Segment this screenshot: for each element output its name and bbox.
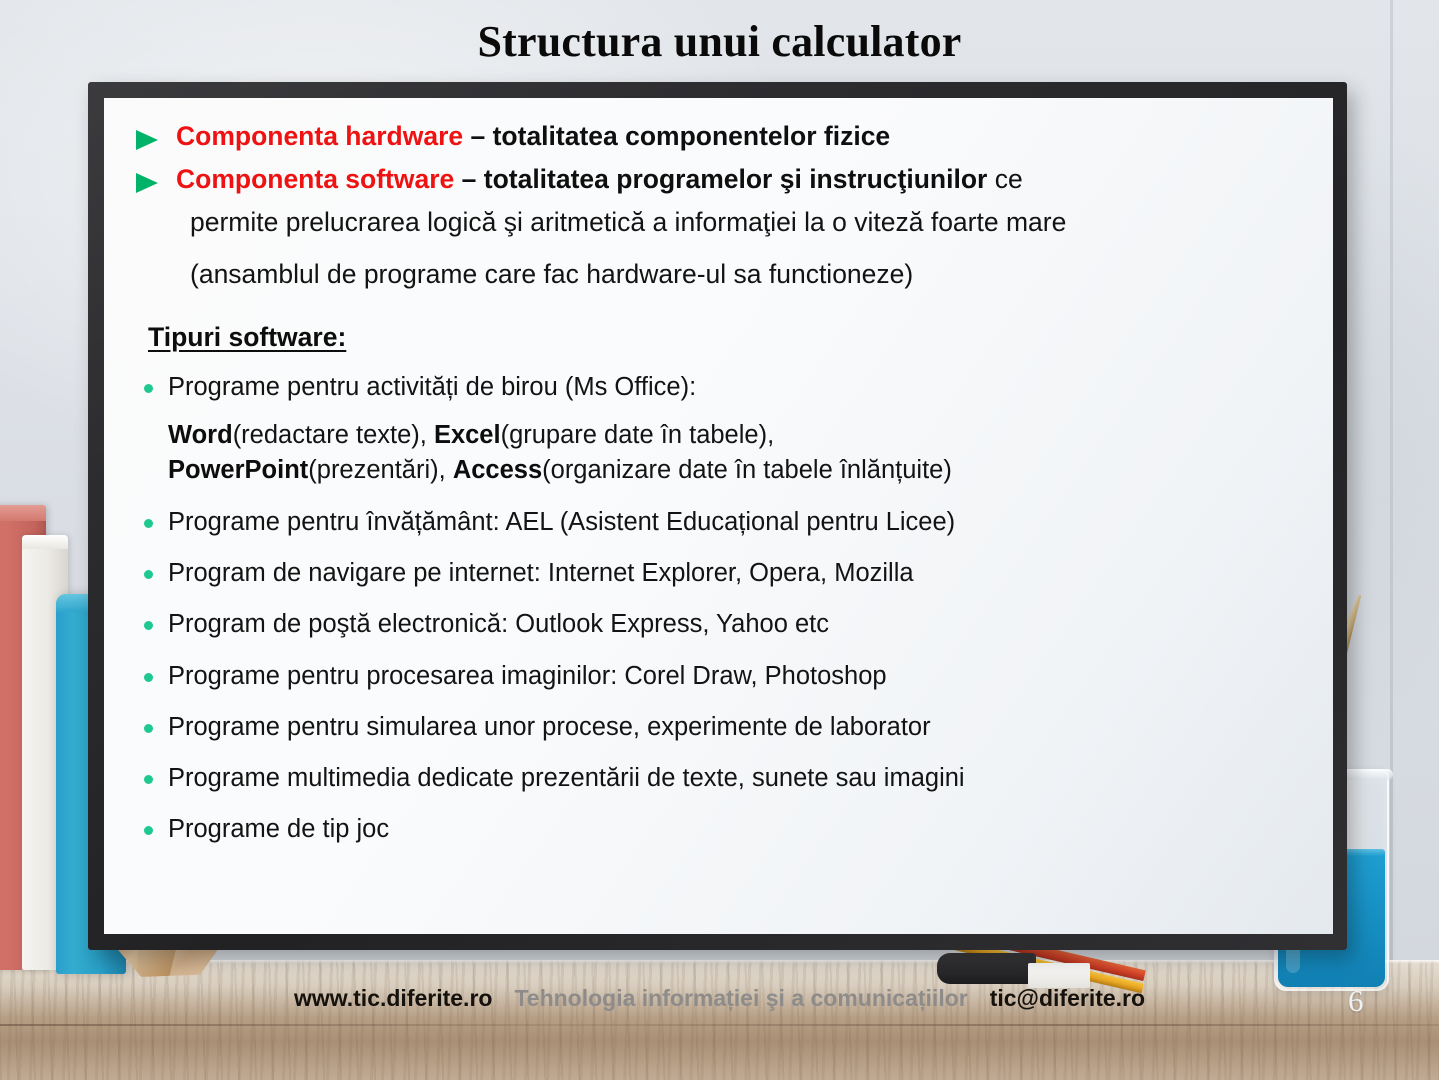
list-item-label: Programe pentru activități de birou (Ms … [168,371,696,404]
list-item: Programe multimedia dedicate prezentării… [134,762,1311,795]
slide-content: Componenta hardware – totalitatea compon… [134,120,1311,846]
book-red-top [0,505,46,521]
software-description: totalitatea programelor şi instrucţiunil… [484,164,988,194]
black-marker-icon [937,953,1036,984]
office-apps-line-2: PowerPoint(prezentări), Access(organizar… [168,453,1311,488]
main-point-hardware: Componenta hardware – totalitatea compon… [134,120,1311,153]
list-item: Program de navigare pe internet: Interne… [134,557,1311,590]
main-point-software: Componenta software – totalitatea progra… [134,163,1311,196]
teal-dot-icon [134,762,168,784]
green-triangle-icon [134,163,162,195]
teal-dot-icon [134,608,168,630]
software-paragraph-1: permite prelucrarea logică şi aritmetică… [190,205,1311,239]
wall-seam [1390,0,1393,975]
shelf-edge-highlight [0,960,1439,964]
list-item: Programe de tip joc [134,813,1311,846]
office-apps-detail: Word(redactare texte), Excel(grupare dat… [168,418,1311,488]
teal-dot-icon [134,371,168,393]
main-point-text: Componenta hardware – totalitatea compon… [176,120,890,153]
list-item: Programe pentru simularea unor procese, … [134,711,1311,744]
software-dash: – [454,164,483,194]
list-item-label: Programe pentru învățământ: AEL (Asisten… [168,506,955,539]
list-item-label: Program de poştă electronică: Outlook Ex… [168,608,829,641]
software-label: Componenta software [176,164,454,194]
app-powerpoint-desc: (prezentări), [308,456,453,484]
main-point-text: Componenta software – totalitatea progra… [176,163,1023,196]
whiteboard-surface: Componenta hardware – totalitatea compon… [104,98,1333,934]
footer-subject: Tehnologia informației şi a comunicațiil… [514,985,967,1012]
office-apps-line-1: Word(redactare texte), Excel(grupare dat… [168,418,1311,453]
list-item: Programe pentru activități de birou (Ms … [134,371,1311,404]
list-item-label: Programe pentru simularea unor procese, … [168,711,931,744]
app-powerpoint: PowerPoint [168,456,308,484]
list-item: Program de poştă electronică: Outlook Ex… [134,608,1311,641]
footer-website[interactable]: www.tic.diferite.ro [294,985,493,1012]
teal-dot-icon [134,506,168,528]
app-word: Word [168,421,233,449]
software-description-tail: ce [987,164,1022,194]
green-triangle-icon [134,120,162,152]
book-white-top [22,535,68,549]
hardware-label: Componenta hardware [176,121,463,151]
shelf-wood-grain-crack [0,1024,1439,1026]
teal-dot-icon [134,711,168,733]
page-number: 6 [1348,983,1364,1019]
list-item-label: Programe multimedia dedicate prezentării… [168,762,965,795]
section-heading-tipuri-software: Tipuri software: [148,322,1311,353]
list-item-label: Programe pentru procesarea imaginilor: C… [168,660,887,693]
app-excel-desc: (grupare date în tabele), [501,421,775,449]
teal-dot-icon [134,557,168,579]
app-access-desc: (organizare date în tabele înlănțuite) [542,456,952,484]
page-title: Structura unui calculator [0,16,1439,67]
list-item: Programe pentru învățământ: AEL (Asisten… [134,506,1311,539]
teal-dot-icon [134,813,168,835]
app-word-desc: (redactare texte), [233,421,434,449]
wooden-shelf [0,960,1439,1080]
app-access: Access [453,456,542,484]
software-paragraph-2: (ansamblul de programe care fac hardware… [190,257,1311,291]
app-excel: Excel [434,421,501,449]
list-item-label: Program de navigare pe internet: Interne… [168,557,914,590]
footer-email[interactable]: tic@diferite.ro [990,985,1145,1012]
list-item-label: Programe de tip joc [168,813,389,846]
teal-dot-icon [134,660,168,682]
hardware-dash: – [463,121,492,151]
hardware-description: totalitatea componentelor fizice [493,121,891,151]
whiteboard-frame: Componenta hardware – totalitatea compon… [88,82,1347,950]
slide-footer: www.tic.diferite.ro Tehnologia informați… [0,985,1439,1012]
list-item: Programe pentru procesarea imaginilor: C… [134,660,1311,693]
